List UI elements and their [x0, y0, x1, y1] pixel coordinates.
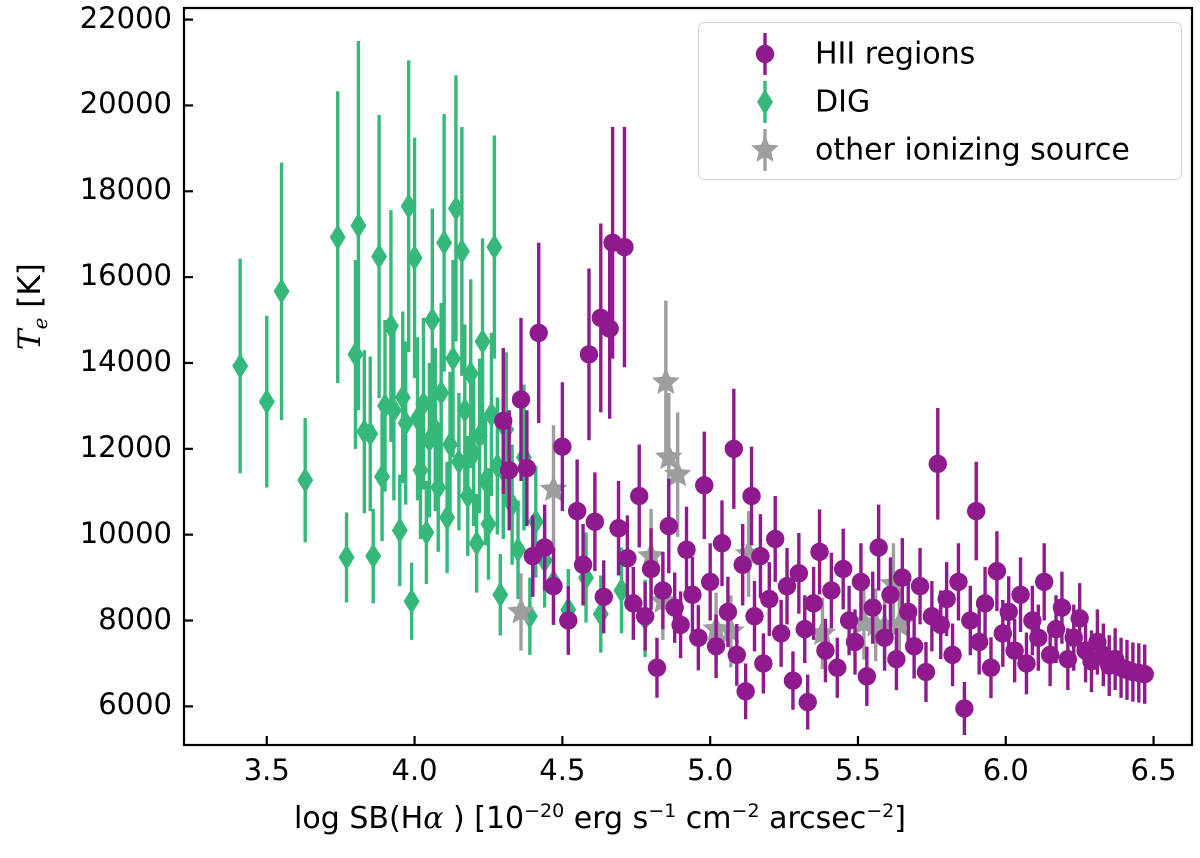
data-point-diamond: [445, 346, 461, 372]
y-axis-subscript: e: [28, 318, 52, 330]
data-point-circle: [937, 590, 955, 608]
data-point-circle: [893, 568, 911, 586]
y-tick-label: 14000: [40, 344, 172, 378]
data-point-circle: [967, 502, 985, 520]
data-point-circle: [988, 562, 1006, 580]
data-point-circle: [784, 671, 802, 689]
legend-label: HII regions: [815, 37, 975, 72]
data-point-circle: [1035, 573, 1053, 591]
star-marker-icon: [737, 127, 793, 173]
x-label-unit1: erg s: [564, 801, 648, 836]
data-point-circle: [701, 573, 719, 591]
data-point-diamond: [480, 511, 496, 537]
data-point-circle: [1017, 654, 1035, 672]
data-point-circle: [580, 345, 598, 363]
data-point-circle: [828, 659, 846, 677]
data-point-circle: [834, 560, 852, 578]
data-point-circle: [1136, 665, 1154, 683]
data-point-circle: [961, 611, 979, 629]
data-point-circle: [976, 594, 994, 612]
data-point-circle: [955, 699, 973, 717]
data-point-circle: [875, 628, 893, 646]
data-point-circle: [816, 641, 834, 659]
y-tick-label: 8000: [40, 602, 172, 636]
legend-entry[interactable]: DIG: [699, 79, 1181, 125]
legend-label: other ionizing source: [815, 133, 1130, 168]
data-point-circle: [736, 682, 754, 700]
data-point-circle: [1070, 609, 1088, 627]
data-point-diamond: [374, 464, 390, 490]
x-tick-label: 5.5: [798, 753, 918, 787]
x-label-exp4: −2: [866, 800, 894, 822]
y-tick-label: 20000: [40, 86, 172, 120]
data-point-circle: [574, 556, 592, 574]
data-point-circle: [733, 556, 751, 574]
data-point-diamond: [430, 474, 446, 500]
data-point-circle: [899, 603, 917, 621]
series-hii-regions: [494, 127, 1154, 735]
data-point-circle: [530, 324, 548, 342]
x-label-unit2: cm: [676, 801, 731, 836]
data-point-circle: [660, 517, 678, 535]
data-point-circle: [932, 616, 950, 634]
data-point-circle: [568, 502, 586, 520]
data-point-circle: [949, 573, 967, 591]
data-point-diamond: [442, 432, 458, 458]
data-point-circle: [595, 588, 613, 606]
data-point-circle: [1053, 598, 1071, 616]
data-point-diamond: [371, 244, 387, 270]
y-tick-label: 16000: [40, 258, 172, 292]
data-point-circle: [881, 586, 899, 604]
data-point-circle: [917, 663, 935, 681]
data-point-diamond: [392, 517, 408, 543]
data-point-circle: [654, 581, 672, 599]
data-point-circle: [671, 616, 689, 634]
data-point-diamond: [398, 410, 414, 436]
data-point-circle: [911, 577, 929, 595]
data-point-circle: [858, 667, 876, 685]
diamond-marker-icon: [737, 79, 793, 125]
data-point-circle: [760, 590, 778, 608]
y-tick-label: 18000: [40, 172, 172, 206]
x-label-unit3: arcsec: [760, 801, 867, 836]
data-point-diamond: [475, 329, 491, 355]
data-point-circle: [665, 598, 683, 616]
data-point-diamond: [412, 457, 428, 483]
data-point-circle: [1029, 628, 1047, 646]
data-point-circle: [586, 513, 604, 531]
data-point-circle: [600, 319, 618, 337]
data-point-circle: [970, 633, 988, 651]
data-point-diamond: [339, 544, 355, 570]
x-tick-label: 6.5: [1094, 753, 1200, 787]
data-point-circle: [630, 487, 648, 505]
data-point-diamond: [404, 588, 420, 614]
x-label-exp2: −1: [648, 800, 676, 822]
x-tick-label: 3.5: [207, 753, 327, 787]
data-point-circle: [636, 607, 654, 625]
x-axis-label: log SB(Hα ) [10−20 erg s−1 cm−2 arcsec−2…: [0, 800, 1200, 836]
data-point-circle: [689, 628, 707, 646]
data-point-circle: [559, 611, 577, 629]
data-point-circle: [518, 459, 536, 477]
data-point-circle: [1023, 611, 1041, 629]
data-point-circle: [494, 412, 512, 430]
data-point-circle: [609, 519, 627, 537]
legend: HII regionsDIGother ionizing source: [698, 22, 1182, 180]
data-point-circle: [799, 693, 817, 711]
data-point-circle: [751, 547, 769, 565]
data-point-circle: [707, 637, 725, 655]
data-point-diamond: [439, 505, 455, 531]
data-point-circle: [772, 624, 790, 642]
data-point-circle: [713, 534, 731, 552]
data-point-circle: [840, 611, 858, 629]
legend-entry[interactable]: other ionizing source: [699, 127, 1181, 173]
legend-label: DIG: [815, 85, 870, 120]
data-point-circle: [804, 594, 822, 612]
data-point-circle: [887, 650, 905, 668]
data-point-circle: [1011, 586, 1029, 604]
data-point-circle: [929, 455, 947, 473]
data-point-diamond: [436, 230, 452, 256]
data-point-circle: [728, 646, 746, 664]
data-point-circle: [905, 637, 923, 655]
x-label-end: ]: [894, 801, 906, 836]
x-tick-label: 5.0: [650, 753, 770, 787]
data-point-circle: [1047, 620, 1065, 638]
legend-entry[interactable]: HII regions: [699, 31, 1181, 77]
y-axis-label: Te [K]: [12, 290, 52, 350]
data-point-circle: [683, 586, 701, 604]
legend-marker: [756, 45, 774, 63]
circle-marker-icon: [737, 31, 793, 77]
data-point-diamond: [469, 530, 485, 556]
data-point-diamond: [297, 467, 313, 493]
data-point-circle: [695, 476, 713, 494]
data-point-diamond: [330, 224, 346, 250]
x-label-alpha: α: [423, 801, 443, 836]
data-point-diamond: [259, 389, 275, 415]
x-label-exp1: −20: [524, 800, 564, 822]
data-point-circle: [742, 487, 760, 505]
data-point-circle: [766, 530, 784, 548]
x-label-close: ) [10: [443, 801, 524, 836]
data-point-circle: [500, 461, 518, 479]
y-tick-label: 6000: [40, 687, 172, 721]
data-point-diamond: [350, 213, 366, 239]
data-point-circle: [615, 238, 633, 256]
data-point-circle: [618, 549, 636, 567]
data-point-circle: [1041, 646, 1059, 664]
x-tick-label: 4.0: [355, 753, 475, 787]
data-point-circle: [796, 620, 814, 638]
data-point-circle: [869, 538, 887, 556]
data-point-circle: [810, 543, 828, 561]
data-point-circle: [725, 440, 743, 458]
y-tick-label: 12000: [40, 430, 172, 464]
data-point-circle: [648, 659, 666, 677]
data-point-circle: [943, 646, 961, 664]
data-point-circle: [642, 560, 660, 578]
x-label-exp3: −2: [732, 800, 760, 822]
figure-container: Te [K] log SB(Hα ) [10−20 erg s−1 cm−2 a…: [0, 0, 1200, 858]
data-point-circle: [677, 540, 695, 558]
data-point-diamond: [492, 582, 508, 608]
data-point-diamond: [347, 341, 363, 367]
data-point-diamond: [424, 307, 440, 333]
data-point-diamond: [274, 278, 290, 304]
data-point-circle: [553, 437, 571, 455]
data-point-circle: [994, 624, 1012, 642]
data-point-circle: [846, 633, 864, 651]
x-tick-label: 6.0: [946, 753, 1066, 787]
x-label-main: log SB(H: [294, 801, 423, 836]
data-point-diamond: [486, 234, 502, 260]
y-tick-label: 10000: [40, 516, 172, 550]
data-point-circle: [719, 603, 737, 621]
data-point-circle: [512, 390, 530, 408]
data-point-diamond: [232, 353, 248, 379]
data-point-circle: [822, 581, 840, 599]
data-point-diamond: [365, 543, 381, 569]
data-point-circle: [535, 538, 553, 556]
y-tick-label: 22000: [40, 1, 172, 35]
data-point-circle: [1059, 650, 1077, 668]
data-point-circle: [864, 598, 882, 616]
x-tick-label: 4.5: [502, 753, 622, 787]
data-point-circle: [852, 573, 870, 591]
data-point-diamond: [528, 509, 544, 535]
data-point-circle: [790, 564, 808, 582]
data-point-circle: [754, 654, 772, 672]
legend-marker: [757, 89, 773, 115]
data-point-circle: [1000, 603, 1018, 621]
data-point-circle: [745, 607, 763, 625]
data-point-circle: [982, 659, 1000, 677]
data-point-circle: [544, 577, 562, 595]
